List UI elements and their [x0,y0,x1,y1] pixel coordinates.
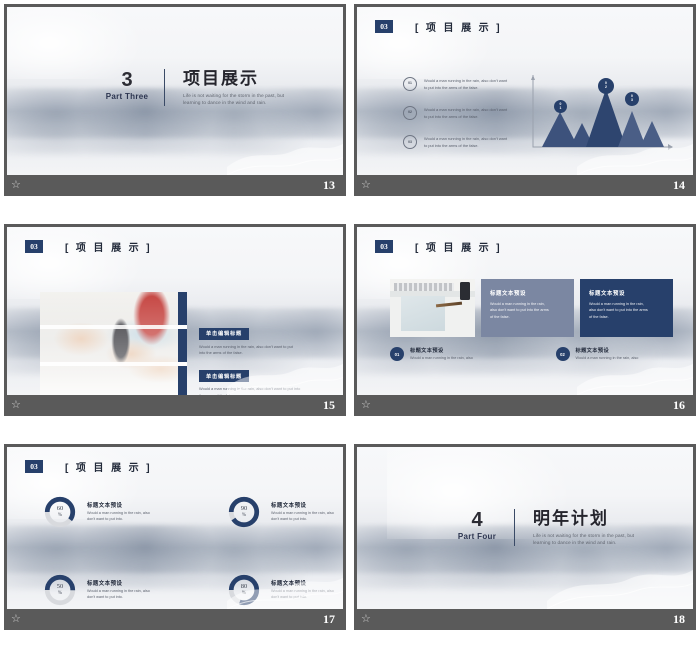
body-line2: into the arms of the false. [199,350,321,357]
section-subtitle: Life is not waiting for the storm in the… [533,532,634,546]
list-item-line2: to put into the arms of the false. [424,114,507,121]
section-subtitle-line1: Life is not waiting for the storm in the… [533,532,634,539]
card-row: 标题文本预设 Would a man running in the rain, … [390,279,673,337]
section-title: 明年计划 [533,509,634,529]
photo-slat-divider [40,325,187,329]
accent-bar [178,292,187,325]
number-badge-icon: 01 [390,347,404,361]
vertical-rule-divider [164,69,165,106]
section-title: 项目展示 [183,69,284,89]
donut-chart: 90 % [227,495,261,529]
slide-canvas-17: 03 [ 项 目 展 示 ] 60 % [7,447,343,609]
list-item-text: 标题文本预设 Would a man running in the rain, … [576,347,639,361]
donut-text: 标题文本预设 Would a man running in the rain, … [87,579,207,601]
donut-value: 80 [241,583,248,590]
card-body: Would a man running in the rain, also do… [589,301,664,320]
content-card-light[interactable]: 标题文本预设 Would a man running in the rain, … [481,279,574,337]
slide-title: [ 项 目 展 示 ] [415,19,502,34]
chart-bubble[interactable]: 0 1 [554,100,567,113]
page-number: 18 [673,612,685,627]
text-block-body: Would a man running in the rain, also do… [199,386,321,395]
bubble-bottom: 3 [631,99,633,103]
bubble-bottom: 2 [605,86,607,90]
slide-frame-18: 4 Part Four 明年计划 Life is not waiting for… [354,444,696,630]
slide-canvas-13: 3 Part Three 项目展示 Life is not waiting fo… [7,7,343,175]
donut-body-line2: don't want to put into. [87,517,207,523]
page-number: 14 [673,178,685,193]
slide-frame-17: 03 [ 项 目 展 示 ] 60 % [4,444,346,630]
list-item[interactable]: 01 标题文本预设 Would a man running in the rai… [390,347,510,361]
donut-item[interactable]: 60 % 标题文本预设 Would a man running in the r… [43,495,207,529]
document-card-icon [401,296,445,331]
photo-slat-divider [40,362,187,366]
page-number: 16 [673,398,685,413]
vertical-rule-divider [514,509,515,546]
slide-frame-16: 03 [ 项 目 展 示 ] 标题文本预设 Would a man [354,224,696,416]
list-item-body: Would a man running in the rain, also [576,356,639,361]
body-line1: Would a man running in the rain, also do… [199,386,321,393]
accent-bar [178,329,187,362]
phone-icon [460,282,470,300]
star-icon: ☆ [11,613,23,625]
slide-footer-13: ☆ 13 [7,175,343,196]
list-item-text: Would a man running in the rain, also do… [424,135,507,149]
donut-text: 标题文本预设 Would a man running in the rain, … [87,501,207,523]
donut-unit: % [242,512,246,519]
text-block: 单击编辑标题 Would a man running in the rain, … [199,322,321,357]
donut-body: Would a man running in the rain, also do… [271,511,343,523]
list-item-line2: to put into the arms of the false. [424,85,507,92]
page-number: 15 [323,398,335,413]
star-icon: ☆ [361,399,373,411]
section-divider-block: 3 Part Three 项目展示 Life is not waiting fo… [103,69,284,106]
card-title: 标题文本预设 [490,289,565,297]
donut-body: Would a man running in the rain, also do… [87,589,207,601]
list-item-line1: Would a man running in the rain, also do… [424,78,507,85]
numbered-text-list: 0 1 Would a man running in the rain, als… [403,77,518,165]
list-item[interactable]: 0 1 Would a man running in the rain, als… [403,77,518,91]
list-item-title: 标题文本预设 [576,347,639,354]
star-icon: ☆ [361,179,373,191]
slide-cell-13[interactable]: 3 Part Three 项目展示 Life is not waiting fo… [0,0,350,220]
slide-cell-14[interactable]: 03 [ 项 目 展 示 ] 0 1 Would a man running i… [350,0,700,220]
slide-header-16: 03 [ 项 目 展 示 ] [375,239,502,254]
section-subtitle-line2: learning to dance in the wind and rain. [183,99,284,106]
magnifier-desk-photo[interactable] [390,279,475,337]
section-subtitle-line1: Life is not waiting for the storm in the… [183,92,284,99]
donut-body-line2: don't want to put into. [271,517,343,523]
donut-value: 60 [57,505,64,512]
slide-frame-14: 03 [ 项 目 展 示 ] 0 1 Would a man running i… [354,4,696,196]
donut-item[interactable]: 50 % 标题文本预设 Would a man running in the r… [43,573,207,607]
text-block: 单击编辑标题 Would a man running in the rain, … [199,365,321,395]
list-item-line1: Would a man running in the rain, also do… [424,107,507,114]
slide-title: [ 项 目 展 示 ] [415,239,502,254]
section-part-label: Part Three [103,92,151,101]
donut-body: Would a man running in the rain, also do… [87,511,207,523]
list-item-text: 标题文本预设 Would a man running in the rain, … [410,347,473,361]
list-item[interactable]: 0 3 Would a man running in the rain, als… [403,135,518,149]
section-part-label: Part Four [453,532,501,541]
slide-canvas-14: 03 [ 项 目 展 示 ] 0 1 Would a man running i… [357,7,693,175]
section-title-group: 项目展示 Life is not waiting for the storm i… [174,69,284,106]
donut-chart: 50 % [43,573,77,607]
slide-frame-15: 03 [ 项 目 展 示 ] 单击编辑标题 [4,224,346,416]
star-icon: ☆ [11,179,23,191]
text-block-body: Would a man running in the rain, also do… [199,344,321,357]
slide-footer-15: ☆ 15 [7,395,343,416]
accent-bar [178,366,187,395]
section-badge: 03 [375,240,393,253]
star-icon: ☆ [361,613,373,625]
card-title: 标题文本预设 [589,289,664,297]
section-badge: 03 [25,460,43,473]
section-number-group: 3 Part Three [103,69,155,106]
list-item-body: Would a man running in the rain, also [410,356,473,361]
chart-bubble[interactable]: 0 2 [598,78,614,94]
list-item-line1: Would a man running in the rain, also do… [424,136,507,143]
donut-label: 50 % [43,573,77,607]
donut-title: 标题文本预设 [87,579,207,587]
donut-unit: % [58,590,62,597]
section-subtitle-line2: learning to dance in the wind and rain. [533,539,634,546]
donut-value: 90 [241,505,248,512]
donut-text: 标题文本预设 Would a man running in the rain, … [271,501,343,523]
section-divider-block: 4 Part Four 明年计划 Life is not waiting for… [453,509,634,546]
slide-footer-18: ☆ 18 [357,609,693,630]
chart-bubble[interactable]: 0 3 [625,92,639,106]
slide-title: [ 项 目 展 示 ] [65,459,152,474]
slide-footer-14: ☆ 14 [357,175,693,196]
donut-item[interactable]: 80 % 标题文本预设 Would a man running in the r… [227,573,343,607]
donut-unit: % [242,590,246,597]
page-number: 13 [323,178,335,193]
slide-header-15: 03 [ 项 目 展 示 ] [25,239,152,254]
number-bottom: 2 [410,111,412,115]
donut-body-line2: don't want to put into. [271,595,343,601]
donut-label: 80 % [227,573,261,607]
edit-title-tag[interactable]: 单击编辑标题 [199,370,249,382]
slide-cell-15[interactable]: 03 [ 项 目 展 示 ] 单击编辑标题 [0,220,350,440]
list-item[interactable]: 02 标题文本预设 Would a man running in the rai… [556,347,676,361]
donut-title: 标题文本预设 [271,579,343,587]
section-badge: 03 [375,20,393,33]
donut-item[interactable]: 90 % 标题文本预设 Would a man running in the r… [227,495,343,529]
slide-canvas-15: 03 [ 项 目 展 示 ] 单击编辑标题 [7,227,343,395]
slide-frame-13: 3 Part Three 项目展示 Life is not waiting fo… [4,4,346,196]
photo-image [40,292,187,395]
list-item[interactable]: 0 2 Would a man running in the rain, als… [403,106,518,120]
donut-chart: 80 % [227,573,261,607]
section-subtitle: Life is not waiting for the storm in the… [183,92,284,106]
slide-header-14: 03 [ 项 目 展 示 ] [375,19,502,34]
slide-cell-17[interactable]: 03 [ 项 目 展 示 ] 60 % [0,440,350,648]
section-badge: 03 [25,240,43,253]
card-body: Would a man running in the rain, also do… [490,301,565,320]
number-badge-icon: 02 [556,347,570,361]
list-item-title: 标题文本预设 [410,347,473,354]
slide-footer-17: ☆ 17 [7,609,343,630]
bottom-item-row: 01 标题文本预设 Would a man running in the rai… [390,347,675,361]
body-line1: Would a man running in the rain, also do… [199,344,321,351]
list-item-text: Would a man running in the rain, also do… [424,77,507,91]
number-circle-icon: 0 3 [403,135,417,149]
donut-title: 标题文本预设 [87,501,207,509]
page-number: 17 [323,612,335,627]
section-number-group: 4 Part Four [453,509,505,546]
handshake-photo[interactable] [40,292,187,395]
section-number: 4 [453,509,501,531]
slide-title: [ 项 目 展 示 ] [65,239,152,254]
keyboard-icon [394,283,454,291]
donut-unit: % [58,512,62,519]
donut-body-line2: don't want to put into. [87,595,207,601]
slide-cell-16[interactable]: 03 [ 项 目 展 示 ] 标题文本预设 Would a man [350,220,700,440]
donut-text: 标题文本预设 Would a man running in the rain, … [271,579,343,601]
slide-cell-18[interactable]: 4 Part Four 明年计划 Life is not waiting for… [350,440,700,648]
donut-label: 90 % [227,495,261,529]
list-item-line2: to put into the arms of the false. [424,143,507,150]
bubble-bottom: 1 [560,107,562,111]
slide-thumbnail-grid: 3 Part Three 项目展示 Life is not waiting fo… [0,0,700,648]
edit-title-tag[interactable]: 单击编辑标题 [199,328,249,340]
list-item-text: Would a man running in the rain, also do… [424,106,507,120]
number-circle-icon: 0 1 [403,77,417,91]
text-column: 单击编辑标题 Would a man running in the rain, … [199,322,321,395]
content-card-dark[interactable]: 标题文本预设 Would a man running in the rain, … [580,279,673,337]
slide-canvas-16: 03 [ 项 目 展 示 ] 标题文本预设 Would a man [357,227,693,395]
slide-canvas-18: 4 Part Four 明年计划 Life is not waiting for… [357,447,693,609]
slide-footer-16: ☆ 16 [357,395,693,416]
number-bottom: 3 [410,141,412,145]
section-title-group: 明年计划 Life is not waiting for the storm i… [524,509,634,546]
card-body-line3: of the false. [490,314,565,320]
card-body-line3: of the false. [589,314,664,320]
donut-title: 标题文本预设 [271,501,343,509]
slide-header-17: 03 [ 项 目 展 示 ] [25,459,152,474]
donut-chart: 60 % [43,495,77,529]
section-number: 3 [103,69,151,91]
number-bottom: 1 [410,82,412,86]
number-circle-icon: 0 2 [403,106,417,120]
donut-label: 60 % [43,495,77,529]
donut-value: 50 [57,583,64,590]
donut-body: Would a man running in the rain, also do… [271,589,343,601]
mountain-chart[interactable]: 0 1 0 2 0 3 [530,73,675,159]
donut-chart-grid: 60 % 标题文本预设 Would a man running in the r… [43,495,329,607]
star-icon: ☆ [11,399,23,411]
